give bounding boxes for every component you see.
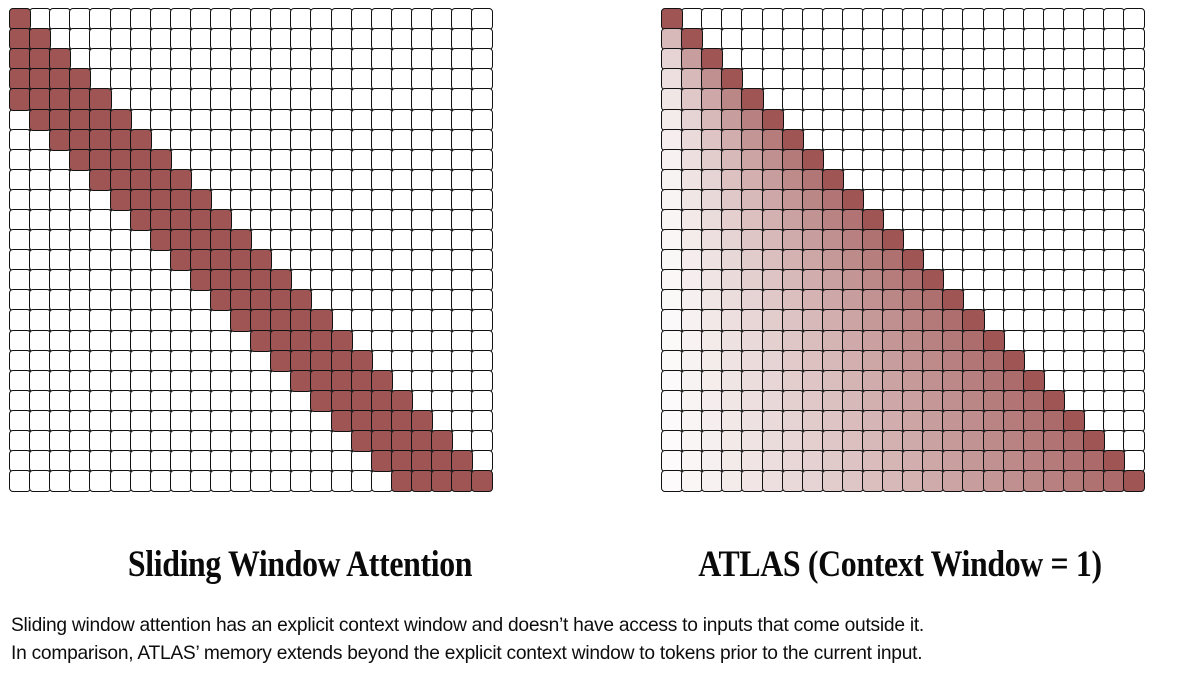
heatmap-cell	[822, 189, 844, 211]
heatmap-cell	[431, 330, 453, 352]
heatmap-cell	[1123, 209, 1145, 231]
heatmap-cell	[1083, 88, 1105, 110]
heatmap-cell	[822, 410, 844, 432]
heatmap-cell	[290, 88, 312, 110]
heatmap-cell	[681, 350, 703, 372]
panel-title-atlas: ATLAS (Context Window = 1)	[642, 543, 1158, 586]
heatmap-cell	[451, 129, 473, 151]
heatmap-cell	[922, 309, 944, 331]
heatmap-cell	[983, 370, 1005, 392]
heatmap-cell	[431, 109, 453, 131]
heatmap-cell	[701, 289, 723, 311]
heatmap-cell	[89, 169, 111, 191]
heatmap-cell	[1063, 269, 1085, 291]
heatmap-cell	[9, 370, 31, 392]
heatmap-cell	[391, 470, 413, 492]
heatmap-cell	[1043, 330, 1065, 352]
panel-container: Sliding Window Attention ATLAS (Context …	[0, 0, 1200, 600]
heatmap-cell	[190, 88, 212, 110]
heatmap-cell	[49, 450, 71, 472]
heatmap-cell	[471, 149, 493, 171]
heatmap-cell	[270, 209, 292, 231]
heatmap-cell	[782, 370, 804, 392]
heatmap-cell	[862, 269, 884, 291]
heatmap-cell	[411, 350, 433, 372]
heatmap-cell	[1023, 189, 1045, 211]
heatmap-cell	[1043, 189, 1065, 211]
heatmap-cell	[150, 209, 172, 231]
heatmap-cell	[782, 430, 804, 452]
heatmap-cell	[1023, 450, 1045, 472]
heatmap-cell	[310, 450, 332, 472]
heatmap-cell	[49, 289, 71, 311]
heatmap-cell	[1043, 249, 1065, 271]
heatmap-cell	[170, 229, 192, 251]
heatmap-cell	[962, 350, 984, 372]
heatmap-cell	[411, 470, 433, 492]
heatmap-cell	[371, 249, 393, 271]
heatmap-cell	[431, 450, 453, 472]
heatmap-cell	[290, 430, 312, 452]
heatmap-cell	[110, 129, 132, 151]
heatmap-cell	[230, 370, 252, 392]
heatmap-cell	[741, 269, 763, 291]
heatmap-cell	[782, 249, 804, 271]
heatmap-cell	[351, 350, 373, 372]
heatmap-cell	[1063, 88, 1085, 110]
heatmap-cell	[310, 390, 332, 412]
heatmap-cell	[822, 8, 844, 30]
heatmap-cell	[721, 289, 743, 311]
heatmap-cell	[49, 229, 71, 251]
heatmap-cell	[721, 28, 743, 50]
heatmap-cell	[230, 410, 252, 432]
heatmap-cell	[471, 430, 493, 452]
heatmap-cell	[451, 370, 473, 392]
heatmap-cell	[130, 370, 152, 392]
heatmap-cell	[371, 410, 393, 432]
heatmap-cell	[89, 129, 111, 151]
heatmap-cell	[661, 28, 683, 50]
heatmap-cell	[29, 68, 51, 90]
heatmap-cell	[802, 370, 824, 392]
heatmap-cell	[862, 109, 884, 131]
heatmap-cell	[331, 350, 353, 372]
heatmap-cell	[170, 88, 192, 110]
heatmap-cell	[351, 189, 373, 211]
heatmap-cell	[1023, 410, 1045, 432]
heatmap-cell	[1103, 169, 1125, 191]
heatmap-cell	[661, 209, 683, 231]
heatmap-cell	[230, 209, 252, 231]
heatmap-cell	[89, 330, 111, 352]
heatmap-cell	[962, 48, 984, 70]
heatmap-cell	[310, 149, 332, 171]
heatmap-cell	[802, 309, 824, 331]
heatmap-cell	[822, 209, 844, 231]
heatmap-cell	[1123, 169, 1145, 191]
heatmap-cell	[210, 8, 232, 30]
heatmap-cell	[210, 350, 232, 372]
heatmap-cell	[431, 169, 453, 191]
heatmap-cell	[69, 470, 91, 492]
heatmap-cell	[782, 109, 804, 131]
heatmap-cell	[69, 249, 91, 271]
heatmap-cell	[1123, 470, 1145, 492]
heatmap-cell	[49, 149, 71, 171]
heatmap-cell	[983, 350, 1005, 372]
heatmap-cell	[802, 229, 824, 251]
heatmap-cell	[741, 450, 763, 472]
heatmap-cell	[110, 149, 132, 171]
heatmap-cell	[431, 149, 453, 171]
heatmap-cell	[230, 289, 252, 311]
heatmap-cell	[822, 330, 844, 352]
heatmap-cell	[331, 68, 353, 90]
heatmap-cell	[150, 350, 172, 372]
heatmap-cell	[681, 390, 703, 412]
heatmap-cell	[1103, 450, 1125, 472]
heatmap-cell	[701, 109, 723, 131]
heatmap-cell	[351, 289, 373, 311]
heatmap-cell	[942, 149, 964, 171]
heatmap-cell	[721, 350, 743, 372]
heatmap-cell	[69, 209, 91, 231]
heatmap-cell	[721, 109, 743, 131]
heatmap-cell	[1003, 28, 1025, 50]
heatmap-cell	[290, 109, 312, 131]
heatmap-cell	[902, 189, 924, 211]
heatmap-cell	[391, 189, 413, 211]
heatmap-cell	[862, 289, 884, 311]
heatmap-cell	[9, 350, 31, 372]
heatmap-cell	[310, 189, 332, 211]
heatmap-cell	[1083, 289, 1105, 311]
heatmap-cell	[862, 209, 884, 231]
heatmap-cell	[250, 350, 272, 372]
heatmap-cell	[1063, 209, 1085, 231]
heatmap-cell	[250, 189, 272, 211]
heatmap-cell	[1023, 289, 1045, 311]
heatmap-cell	[681, 470, 703, 492]
heatmap-cell	[701, 28, 723, 50]
heatmap-cell	[451, 450, 473, 472]
heatmap-cell	[110, 350, 132, 372]
heatmap-cell	[451, 309, 473, 331]
heatmap-cell	[170, 28, 192, 50]
heatmap-cell	[471, 350, 493, 372]
heatmap-cell	[210, 129, 232, 151]
heatmap-cell	[190, 109, 212, 131]
heatmap-cell	[170, 269, 192, 291]
heatmap-cell	[69, 370, 91, 392]
heatmap-cell	[371, 430, 393, 452]
heatmap-cell	[110, 289, 132, 311]
heatmap-cell	[962, 169, 984, 191]
heatmap-cell	[49, 68, 71, 90]
heatmap-cell	[49, 48, 71, 70]
heatmap-cell	[290, 149, 312, 171]
heatmap-cell	[842, 430, 864, 452]
heatmap-cell	[29, 410, 51, 432]
heatmap-cell	[371, 229, 393, 251]
heatmap-cell	[190, 330, 212, 352]
heatmap-cell	[371, 450, 393, 472]
heatmap-cell	[721, 88, 743, 110]
heatmap-cell	[882, 410, 904, 432]
heatmap-cell	[681, 68, 703, 90]
heatmap-cell	[29, 209, 51, 231]
heatmap-cell	[230, 129, 252, 151]
heatmap-cell	[331, 249, 353, 271]
heatmap-cell	[962, 410, 984, 432]
heatmap-cell	[170, 48, 192, 70]
heatmap-cell	[391, 68, 413, 90]
heatmap-cell	[782, 350, 804, 372]
heatmap-cell	[230, 430, 252, 452]
heatmap-cell	[983, 48, 1005, 70]
heatmap-cell	[310, 229, 332, 251]
heatmap-cell	[49, 430, 71, 452]
heatmap-cell	[110, 410, 132, 432]
heatmap-cell	[1043, 370, 1065, 392]
heatmap-cell	[29, 430, 51, 452]
heatmap-cell	[270, 410, 292, 432]
heatmap-cell	[1123, 309, 1145, 331]
heatmap-cell	[250, 249, 272, 271]
heatmap-cell	[942, 370, 964, 392]
heatmap-cell	[371, 209, 393, 231]
heatmap-cell	[701, 330, 723, 352]
heatmap-cell	[762, 330, 784, 352]
panel-title-sliding-window: Sliding Window Attention	[42, 543, 558, 586]
heatmap-cell	[431, 390, 453, 412]
heatmap-cell	[922, 350, 944, 372]
heatmap-cell	[331, 229, 353, 251]
heatmap-cell	[782, 149, 804, 171]
heatmap-cell	[270, 129, 292, 151]
heatmap-cell	[762, 129, 784, 151]
heatmap-cell	[1063, 470, 1085, 492]
heatmap-cell	[962, 209, 984, 231]
heatmap-cell	[89, 430, 111, 452]
heatmap-cell	[270, 68, 292, 90]
heatmap-cell	[1103, 149, 1125, 171]
heatmap-cell	[9, 470, 31, 492]
heatmap-cell	[661, 430, 683, 452]
heatmap-cell	[451, 149, 473, 171]
heatmap-cell	[150, 370, 172, 392]
heatmap-cell	[1043, 229, 1065, 251]
heatmap-cell	[250, 149, 272, 171]
heatmap-cell	[1103, 68, 1125, 90]
heatmap-cell	[1123, 129, 1145, 151]
heatmap-cell	[451, 289, 473, 311]
heatmap-cell	[29, 48, 51, 70]
heatmap-cell	[351, 370, 373, 392]
heatmap-cell	[661, 68, 683, 90]
heatmap-cell	[1003, 370, 1025, 392]
heatmap-cell	[842, 450, 864, 472]
heatmap-cell	[1103, 28, 1125, 50]
heatmap-cell	[1043, 28, 1065, 50]
heatmap-cell	[371, 169, 393, 191]
heatmap-cell	[922, 370, 944, 392]
heatmap-cell	[250, 450, 272, 472]
heatmap-cell	[290, 370, 312, 392]
heatmap-cell	[802, 8, 824, 30]
heatmap-cell	[110, 470, 132, 492]
heatmap-cell	[451, 390, 473, 412]
heatmap-cell	[150, 269, 172, 291]
heatmap-cell	[681, 149, 703, 171]
heatmap-cell	[1083, 48, 1105, 70]
heatmap-cell	[391, 109, 413, 131]
heatmap-cell	[150, 390, 172, 412]
heatmap-cell	[1123, 8, 1145, 30]
heatmap-cell	[1003, 269, 1025, 291]
heatmap-cell	[942, 430, 964, 452]
heatmap-cell	[310, 470, 332, 492]
heatmap-cell	[89, 209, 111, 231]
heatmap-cell	[431, 289, 453, 311]
heatmap-cell	[1123, 189, 1145, 211]
heatmap-cell	[170, 109, 192, 131]
heatmap-cell	[1123, 28, 1145, 50]
heatmap-cell	[210, 28, 232, 50]
heatmap-cell	[170, 430, 192, 452]
heatmap-cell	[310, 269, 332, 291]
heatmap-cell	[150, 450, 172, 472]
heatmap-cell	[210, 410, 232, 432]
heatmap-cell	[762, 390, 784, 412]
heatmap-cell	[150, 169, 172, 191]
heatmap-cell	[69, 410, 91, 432]
heatmap-cell	[882, 129, 904, 151]
heatmap-cell	[331, 309, 353, 331]
heatmap-cell	[130, 289, 152, 311]
heatmap-cell	[902, 169, 924, 191]
heatmap-cell	[250, 330, 272, 352]
heatmap-cell	[1003, 390, 1025, 412]
heatmap-cell	[922, 470, 944, 492]
heatmap-cell	[661, 370, 683, 392]
heatmap-cell	[290, 129, 312, 151]
heatmap-cell	[150, 129, 172, 151]
heatmap-cell	[822, 370, 844, 392]
heatmap-cell	[741, 88, 763, 110]
heatmap-cell	[210, 249, 232, 271]
heatmap-cell	[782, 88, 804, 110]
heatmap-cell	[190, 269, 212, 291]
heatmap-cell	[802, 289, 824, 311]
heatmap-cell	[451, 229, 473, 251]
heatmap-cell	[250, 390, 272, 412]
heatmap-cell	[49, 330, 71, 352]
heatmap-cell	[290, 470, 312, 492]
heatmap-cell	[411, 48, 433, 70]
heatmap-cell	[842, 309, 864, 331]
heatmap-cell	[290, 48, 312, 70]
heatmap-cell	[842, 370, 864, 392]
heatmap-cell	[922, 229, 944, 251]
heatmap-cell	[270, 309, 292, 331]
heatmap-cell	[681, 88, 703, 110]
heatmap-cell	[471, 169, 493, 191]
heatmap-cell	[190, 450, 212, 472]
heatmap-cell	[661, 390, 683, 412]
heatmap-cell	[762, 370, 784, 392]
heatmap-cell	[351, 28, 373, 50]
heatmap-cell	[822, 149, 844, 171]
heatmap-cell	[1123, 48, 1145, 70]
heatmap-cell	[782, 68, 804, 90]
heatmap-cell	[1043, 149, 1065, 171]
heatmap-cell	[942, 390, 964, 412]
heatmap-cell	[942, 330, 964, 352]
heatmap-cell	[1063, 229, 1085, 251]
heatmap-cell	[49, 249, 71, 271]
heatmap-cell	[741, 68, 763, 90]
heatmap-cell	[290, 229, 312, 251]
heatmap-cell	[270, 48, 292, 70]
heatmap-cell	[721, 8, 743, 30]
heatmap-cell	[411, 289, 433, 311]
heatmap-cell	[391, 450, 413, 472]
heatmap-cell	[661, 169, 683, 191]
heatmap-cell	[862, 450, 884, 472]
heatmap-cell	[1043, 309, 1065, 331]
heatmap-cell	[351, 229, 373, 251]
heatmap-cell	[250, 129, 272, 151]
heatmap-cell	[962, 390, 984, 412]
heatmap-cell	[1123, 410, 1145, 432]
heatmap-cell	[983, 330, 1005, 352]
heatmap-cell	[270, 189, 292, 211]
heatmap-cell	[902, 309, 924, 331]
heatmap-cell	[762, 410, 784, 432]
heatmap-cell	[110, 88, 132, 110]
heatmap-cell	[962, 370, 984, 392]
heatmap-cell	[721, 309, 743, 331]
heatmap-cell	[371, 68, 393, 90]
heatmap-cell	[270, 430, 292, 452]
heatmap-cell	[842, 149, 864, 171]
heatmap-cell	[351, 169, 373, 191]
heatmap-cell	[983, 209, 1005, 231]
heatmap-cell	[1003, 229, 1025, 251]
heatmap-cell	[942, 88, 964, 110]
heatmap-cell	[69, 330, 91, 352]
heatmap-cell	[661, 410, 683, 432]
heatmap-cell	[802, 269, 824, 291]
heatmap-cell	[250, 410, 272, 432]
heatmap-cell	[170, 169, 192, 191]
heatmap-cell	[9, 410, 31, 432]
heatmap-cell	[661, 249, 683, 271]
heatmap-cell	[331, 269, 353, 291]
heatmap-cell	[983, 8, 1005, 30]
heatmap-cell	[471, 109, 493, 131]
heatmap-cell	[1083, 229, 1105, 251]
heatmap-cell	[983, 88, 1005, 110]
heatmap-cell	[1003, 169, 1025, 191]
heatmap-cell	[822, 289, 844, 311]
heatmap-cell	[69, 129, 91, 151]
heatmap-cell	[1063, 8, 1085, 30]
heatmap-cell	[49, 269, 71, 291]
heatmap-cell	[210, 390, 232, 412]
